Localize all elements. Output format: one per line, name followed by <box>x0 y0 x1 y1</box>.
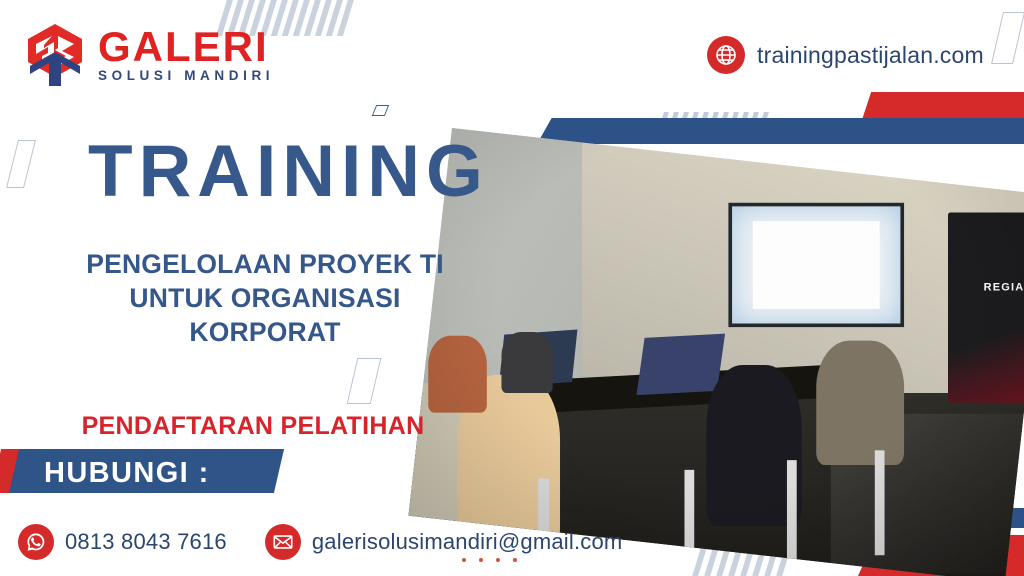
company-logo[interactable]: GALERI SOLUSI MANDIRI <box>22 22 274 88</box>
email-address[interactable]: galerisolusimandiri@gmail.com <box>312 529 623 555</box>
email-icon <box>265 524 301 560</box>
outline-shape-4 <box>991 12 1024 64</box>
outline-diamond-1 <box>372 105 389 116</box>
website-url[interactable]: trainingpastijalan.com <box>757 42 984 69</box>
website-block[interactable]: trainingpastijalan.com <box>707 36 984 74</box>
subtitle-line-2: UNTUK ORGANISASI <box>50 282 480 316</box>
navy-band-above-photo <box>537 118 1024 144</box>
training-photo: REGIA II <box>409 128 1024 576</box>
contact-row: 0813 8043 7616 galerisolusimandiri@gmail… <box>18 524 622 560</box>
subtitle-line-1: PENGELOLAAN PROYEK TI <box>50 248 480 282</box>
promo-flyer: REGIA II <box>0 0 1024 576</box>
logo-primary-text: GALERI <box>98 27 274 67</box>
subtitle-line-3: KORPORAT <box>50 316 480 350</box>
contact-email[interactable]: galerisolusimandiri@gmail.com <box>265 524 623 560</box>
globe-icon <box>707 36 745 74</box>
hubungi-label: HUBUNGI : <box>44 457 210 490</box>
whatsapp-icon <box>18 524 54 560</box>
gs-hexagon-logo-icon <box>22 22 88 88</box>
phone-number[interactable]: 0813 8043 7616 <box>65 529 227 555</box>
outline-shape-1 <box>6 140 36 188</box>
registration-label: PENDAFTARAN PELATIHAN <box>53 412 453 441</box>
subtitle: PENGELOLAAN PROYEK TI UNTUK ORGANISASI K… <box>50 248 480 350</box>
logo-wordmark: GALERI SOLUSI MANDIRI <box>98 27 274 83</box>
logo-secondary-text: SOLUSI MANDIRI <box>98 68 274 83</box>
outline-shape-3 <box>347 358 382 404</box>
photo-vignette <box>409 128 1024 576</box>
contact-phone[interactable]: 0813 8043 7616 <box>18 524 227 560</box>
page-title: TRAINING <box>88 135 489 208</box>
